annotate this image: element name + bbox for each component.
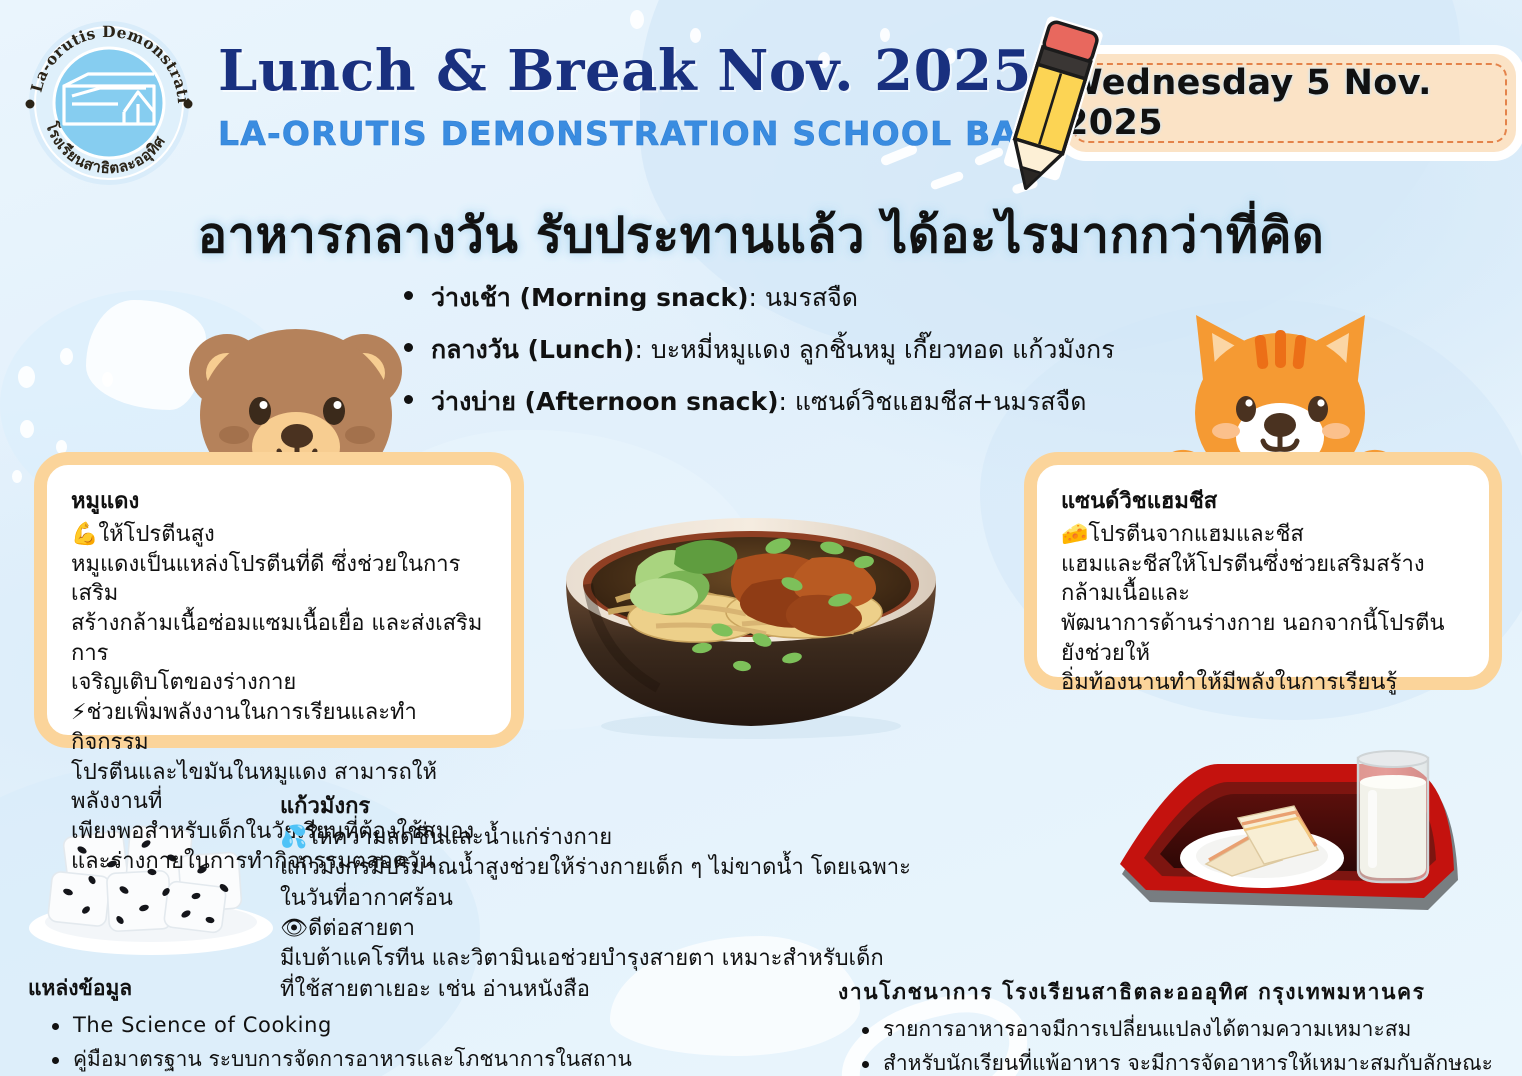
info-card-sandwich: แซนด์วิชแฮมชีส 🧀โปรตีนจากแฮมและชีส แฮมแล… (1024, 452, 1502, 690)
dragonfruit-line: 👁ดีต่อสายตา (280, 914, 880, 944)
dragonfruit-title: แก้วมังกร (280, 788, 880, 823)
headline-text: อาหารกลางวัน รับประทานแล้ว ได้อะไรมากกว่… (0, 196, 1522, 274)
footer-sources-item: The Science of Cooking (28, 1012, 708, 1039)
bullet-icon (404, 395, 413, 404)
muscle-icon: 💪 (71, 522, 98, 547)
bullet-icon (404, 343, 413, 352)
deco-dot (18, 366, 35, 388)
water-drops-icon: 💦 (280, 825, 307, 850)
deco-dot (12, 470, 22, 483)
bullet-icon (52, 1057, 59, 1064)
dragonfruit-line: ในวันที่อากาศร้อน (280, 884, 880, 914)
lightning-icon: ⚡ (71, 700, 86, 725)
menu-item-value: : บะหมี่หมูแดง ลูกชิ้นหมู เกี๊ยวทอด แก้ว… (635, 330, 1115, 370)
deco-dot (60, 348, 73, 365)
card-line: ⚡ช่วยเพิ่มพลังงานในการเรียนและทำกิจกรรม (71, 698, 489, 757)
footer-sources-item: คู่มือมาตรฐาน ระบบการจัดการอาหารและโภชนา… (28, 1046, 708, 1076)
footer-notes: งานโภชนาการ โรงเรียนสาธิตละอออุทิศ กรุงเ… (838, 976, 1518, 1076)
sandwich-tray-photo (1106, 742, 1476, 942)
menu-item-value: : แซนด์วิชแฮมชีส+นมรสจืด (779, 382, 1087, 422)
menu-item-value: : นมรสจืด (749, 278, 859, 318)
bullet-icon (862, 1027, 869, 1034)
card-line: อิ่มท้องนานทำให้มีพลังในการเรียนรู้ (1061, 668, 1467, 698)
menu-item-lunch: กลางวัน (Lunch) : บะหมี่หมูแดง ลูกชิ้นหม… (404, 330, 1115, 370)
dragonfruit-line: แก้วมังกรมีปริมาณน้ำสูงช่วยให้ร่างกายเด็… (280, 853, 880, 883)
footer-sources-text: The Science of Cooking (73, 1012, 332, 1039)
date-badge: Wednesday 5 Nov. 2025 (1064, 54, 1516, 152)
bullet-icon (52, 1023, 59, 1030)
dragonfruit-line: 💦ให้ความสดชื่นและน้ำแก่ร่างกาย (280, 823, 880, 853)
card-line: 💪ให้โปรตีนสูง (71, 520, 489, 550)
card-line: สร้างกล้ามเนื้อซ่อมแซมเนื้อเยื่อ และส่งเ… (71, 609, 489, 668)
dragonfruit-line: มีเบต้าแคโรทีน และวิตามินเอช่วยบำรุงสายต… (280, 944, 880, 974)
menu-item-morning: ว่างเช้า (Morning snack) : นมรสจืด (404, 278, 1115, 318)
pencil-icon (996, 14, 1106, 199)
school-logo: La-orutis Demonstration School โรงเรียนส… (14, 8, 204, 194)
deco-dash (929, 170, 964, 190)
deco-dot (630, 10, 644, 29)
footer-notes-text: สำหรับนักเรียนที่แพ้อาหาร จะมีการจัดอาหา… (883, 1050, 1518, 1076)
menu-list: ว่างเช้า (Morning snack) : นมรสจืด กลางว… (404, 278, 1115, 434)
menu-item-label: ว่างเช้า (Morning snack) (431, 278, 749, 318)
eye-icon: 👁 (280, 916, 308, 941)
footer-sources-text: คู่มือมาตรฐาน ระบบการจัดการอาหารและโภชนา… (73, 1046, 708, 1076)
footer-notes-title: งานโภชนาการ โรงเรียนสาธิตละอออุทิศ กรุงเ… (838, 976, 1518, 1009)
card-title-sandwich: แซนด์วิชแฮมชีส (1061, 483, 1467, 518)
poster-canvas: La-orutis Demonstration School โรงเรียนส… (0, 0, 1522, 1076)
menu-item-label: ว่างบ่าย (Afternoon snack) (431, 382, 779, 422)
card-line: แฮมและชีสให้โปรตีนซึ่งช่วยเสริมสร้างกล้า… (1061, 550, 1467, 609)
deco-dot (20, 420, 34, 438)
deco-dot (102, 372, 113, 387)
menu-item-label: กลางวัน (Lunch) (431, 330, 635, 370)
card-line: 🧀โปรตีนจากแฮมและชีส (1061, 520, 1467, 550)
noodle-bowl-photo (546, 488, 956, 740)
menu-item-afternoon: ว่างบ่าย (Afternoon snack) : แซนด์วิชแฮม… (404, 382, 1115, 422)
info-card-pork: หมูแดง 💪ให้โปรตีนสูง หมูแดงเป็นแหล่งโปรต… (34, 452, 524, 748)
bullet-icon (862, 1061, 869, 1068)
card-line: หมูแดงเป็นแหล่งโปรตีนที่ดี ซึ่งช่วยในการ… (71, 550, 489, 609)
footer-notes-item: สำหรับนักเรียนที่แพ้อาหาร จะมีการจัดอาหา… (838, 1050, 1518, 1076)
card-line: พัฒนาการด้านร่างกาย นอกจากนี้โปรตีนยังช่… (1061, 609, 1467, 668)
footer-notes-item: รายการอาหารอาจมีการเปลี่ยนแปลงได้ตามความ… (838, 1016, 1518, 1043)
card-title-pork: หมูแดง (71, 483, 489, 518)
bullet-icon (404, 291, 413, 300)
cheese-icon: 🧀 (1061, 522, 1088, 547)
card-line: เจริญเติบโตของร่างกาย (71, 668, 489, 698)
footer-notes-text: รายการอาหารอาจมีการเปลี่ยนแปลงได้ตามความ… (883, 1016, 1411, 1043)
footer-sources: แหล่งข้อมูล The Science of Cooking คู่มื… (28, 972, 708, 1076)
date-text: Wednesday 5 Nov. 2025 (1064, 63, 1516, 143)
footer-sources-title: แหล่งข้อมูล (28, 972, 708, 1005)
